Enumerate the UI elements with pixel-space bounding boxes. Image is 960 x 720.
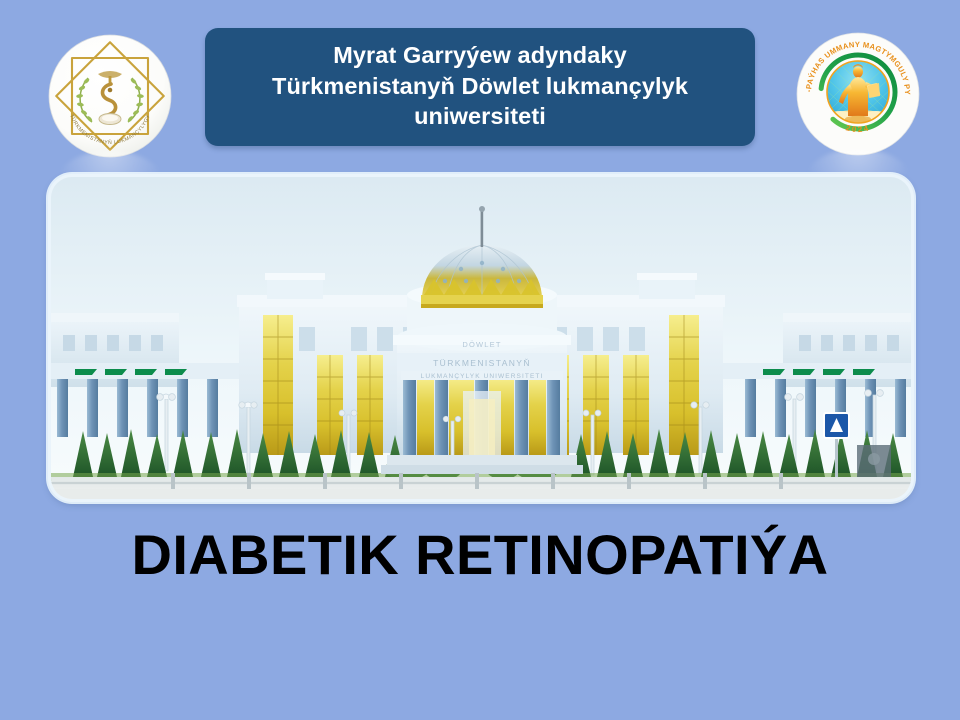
year-2024-emblem-icon: PÄHIM-PAÝHAS UMMANY MAGTYMGULY PYRAGY 20…	[796, 32, 920, 156]
presentation-main-title: DIABETIK RETINOPATIÝA	[0, 524, 960, 586]
facade-inscription-2: DÖWLET	[462, 340, 501, 349]
facade-inscription-1: TÜRKMENISTANYŇ	[433, 358, 531, 368]
university-title-text: Myrat Garryýew adyndaky Türkmenistanyň D…	[272, 40, 688, 132]
university-title-banner: Myrat Garryýew adyndaky Türkmenistanyň D…	[205, 28, 755, 146]
year-2024-emblem: PÄHIM-PAÝHAS UMMANY MAGTYMGULY PYRAGY 20…	[796, 32, 920, 156]
university-emblem-icon: TÜRKMENISTANYŇ LUKMANÇYLYGY	[48, 34, 172, 158]
university-building-photo: TÜRKMENISTANYŇ DÖWLET	[51, 177, 911, 499]
facade-inscription-3: LUKMANÇYLYK UNIWERSITETI	[421, 373, 544, 380]
university-emblem: TÜRKMENISTANYŇ LUKMANÇYLYGY	[48, 34, 172, 158]
university-building-illustration: TÜRKMENISTANYŇ DÖWLET	[51, 177, 911, 499]
university-building-photo-frame: TÜRKMENISTANYŇ DÖWLET	[48, 174, 914, 502]
slide-canvas: TÜRKMENISTANYŇ LUKMANÇYLYGY Myrat Garryý…	[0, 0, 960, 720]
